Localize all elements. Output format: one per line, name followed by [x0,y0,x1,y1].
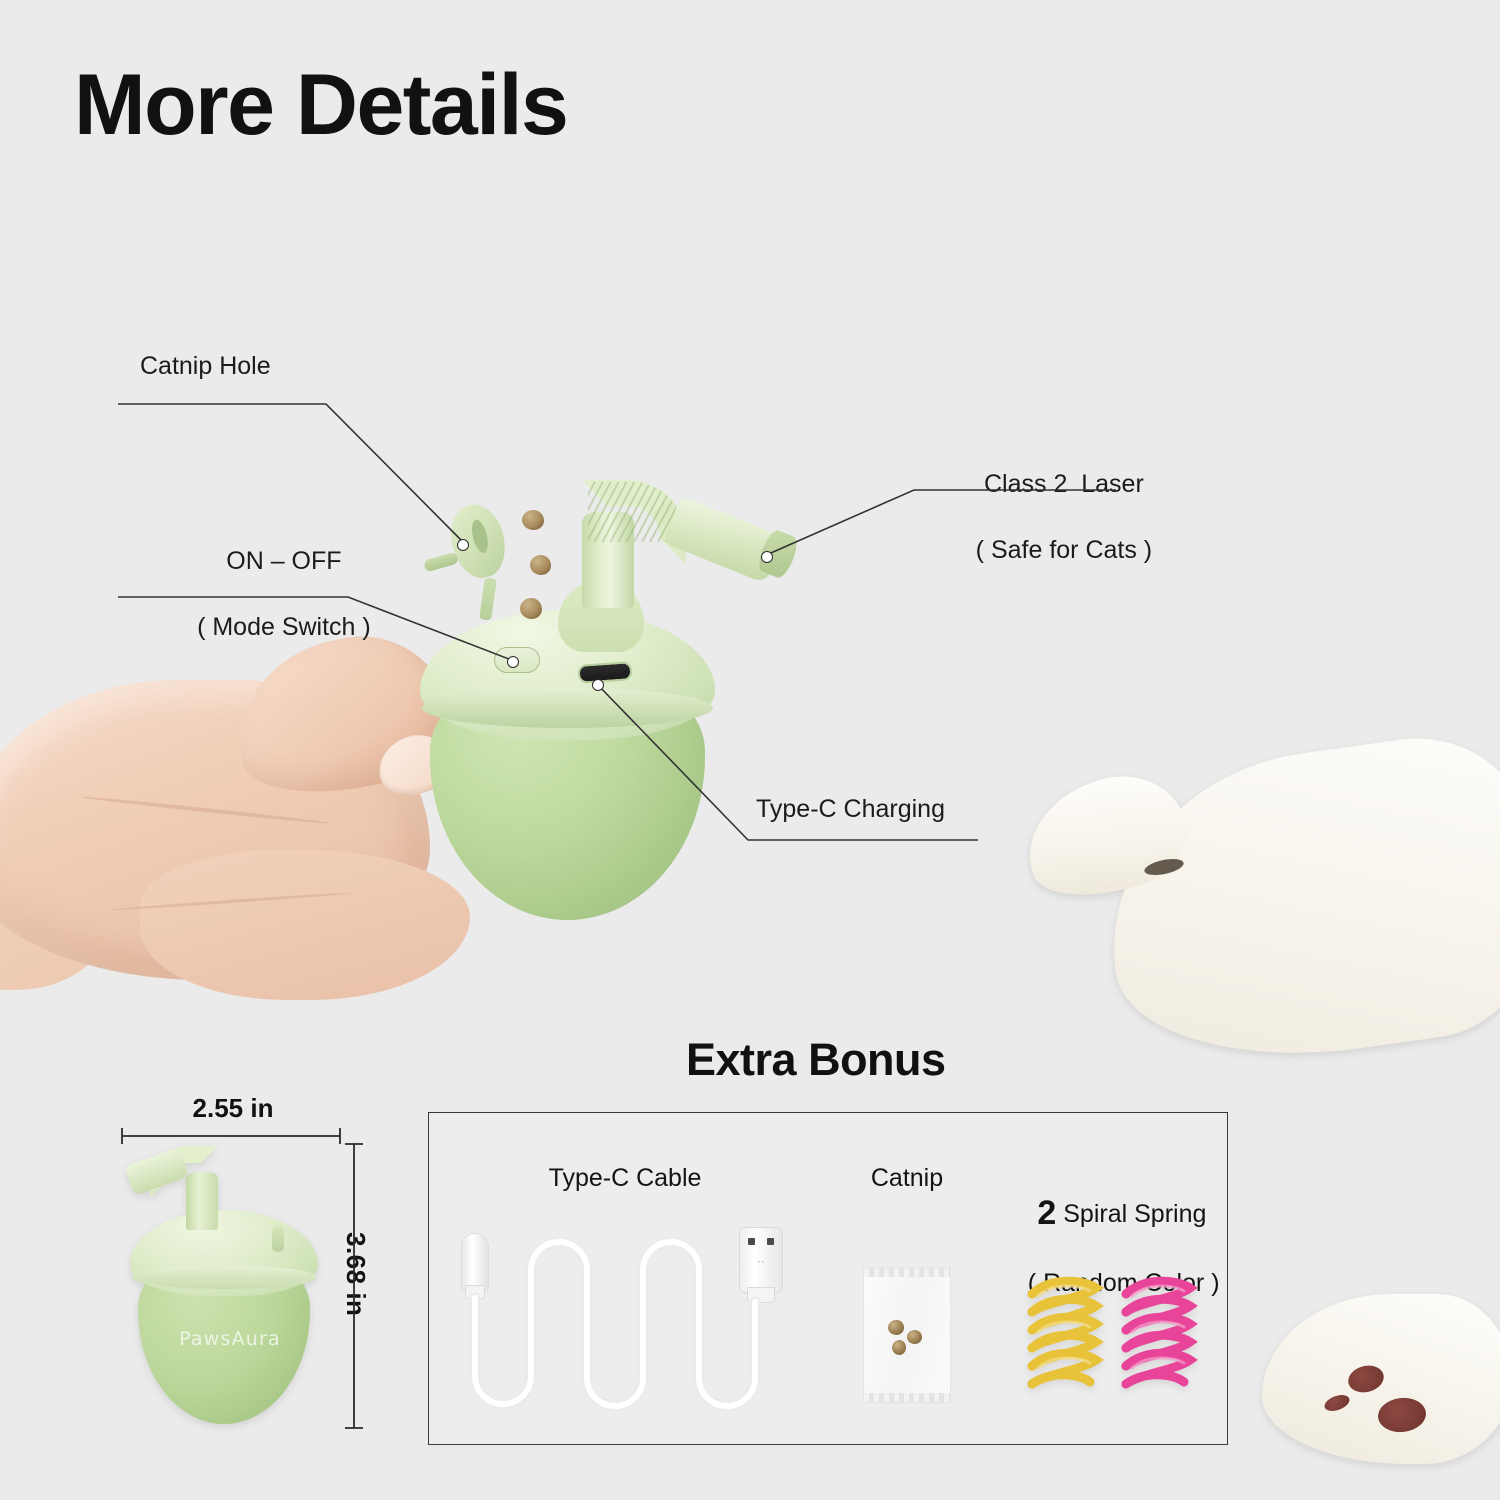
cat-leg [1089,724,1500,1081]
spiral-spring-pink [1118,1272,1198,1407]
anchor-dot-laser [761,551,773,563]
dimension-width-label: 2.55 in [128,1093,338,1124]
bonus-label-catnip: Catnip [832,1162,982,1195]
brand-logo: PawsAura [160,1328,300,1350]
mini-product-device: PawsAura [120,1132,340,1432]
type-c-cable-graphic: ¨ [452,1228,792,1428]
leader-line-mode-switch [118,575,528,675]
type-c-charging-port[interactable] [577,661,632,684]
cat-paw-upper [1018,742,1500,1072]
mini-device-rim [132,1265,316,1289]
catnip-lid-stem [423,552,459,573]
product-detail-page: More Details Catnip Hole [0,0,1500,1500]
catnip-sample-bag [864,1268,950,1402]
spiral-spring-yellow [1024,1272,1104,1407]
bonus-label-cable: Type-C Cable [460,1162,790,1195]
leader-line-laser [764,490,1124,570]
catnip-seed [892,1340,906,1355]
leader-line-type-c [596,683,982,853]
mini-catnip-lid-nub [272,1226,284,1252]
anchor-dot-mode-switch [507,656,519,668]
bag-seam-top [864,1268,950,1277]
catnip-seed [907,1330,922,1344]
dimension-height-line [343,1140,367,1432]
bag-seam-bottom [864,1393,950,1402]
spring-count: 2 [1037,1194,1056,1232]
page-title: More Details [74,62,567,148]
catnip-pellet [530,555,551,575]
callout-label-catnip-hole: Catnip Hole [140,350,271,383]
anchor-dot-type-c [592,679,604,691]
catnip-pellet [522,510,544,530]
anchor-dot-catnip-hole [457,539,469,551]
spring-label: Spiral Spring [1056,1200,1206,1228]
section-title-extra-bonus: Extra Bonus [686,1037,946,1082]
mode-switch-line1: ON – OFF [226,547,341,575]
catnip-seed [888,1320,904,1335]
cat-paw-lower [1262,1288,1500,1500]
